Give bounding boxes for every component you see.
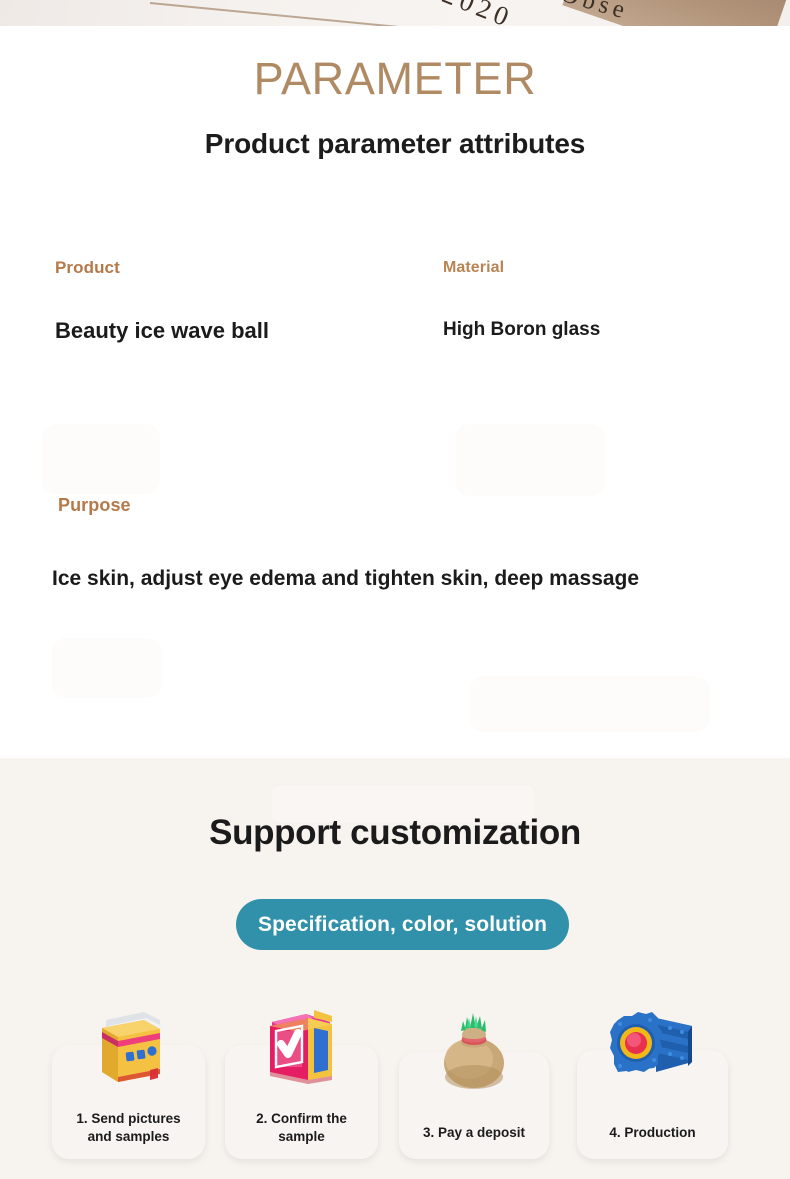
step-card-1-label: 1. Send pictures and samples [76, 1110, 180, 1159]
step-card-3[interactable]: 3. Pay a deposit [399, 1052, 549, 1159]
page-title: PARAMETER [0, 53, 790, 105]
parameter-section: PARAMETER Product parameter attributes P… [0, 26, 790, 758]
customization-title: Support customization [0, 813, 790, 853]
spec-value-product: Beauty ice wave ball [55, 318, 269, 344]
page-subtitle: Product parameter attributes [0, 128, 790, 160]
customization-options-label: Specification, color, solution [258, 913, 547, 937]
header-photo-strip: 2020 Obse [0, 0, 790, 26]
spec-label-material: Material [443, 259, 504, 277]
step-card-1[interactable]: 1. Send pictures and samples [52, 1045, 205, 1159]
step-card-4[interactable]: 4. Production [577, 1050, 728, 1159]
watermark-shape-c [52, 638, 162, 698]
step-card-3-label: 3. Pay a deposit [423, 1124, 525, 1159]
watermark-shape-a [42, 424, 160, 494]
spec-value-purpose: Ice skin, adjust eye edema and tighten s… [52, 567, 639, 591]
watermark-shape-b [455, 424, 605, 496]
step-card-4-label: 4. Production [609, 1124, 695, 1159]
step-card-2[interactable]: 2. Confirm the sample [225, 1045, 378, 1159]
watermark-shape-d [470, 676, 710, 732]
spec-label-product: Product [55, 258, 120, 278]
customization-options-pill: Specification, color, solution [236, 899, 569, 950]
product-detail-page: 2020 Obse PARAMETER Product parameter at… [0, 0, 790, 1179]
step-card-2-label: 2. Confirm the sample [256, 1110, 347, 1159]
spec-value-material: High Boron glass [443, 319, 600, 341]
spec-label-purpose: Purpose [58, 495, 131, 516]
